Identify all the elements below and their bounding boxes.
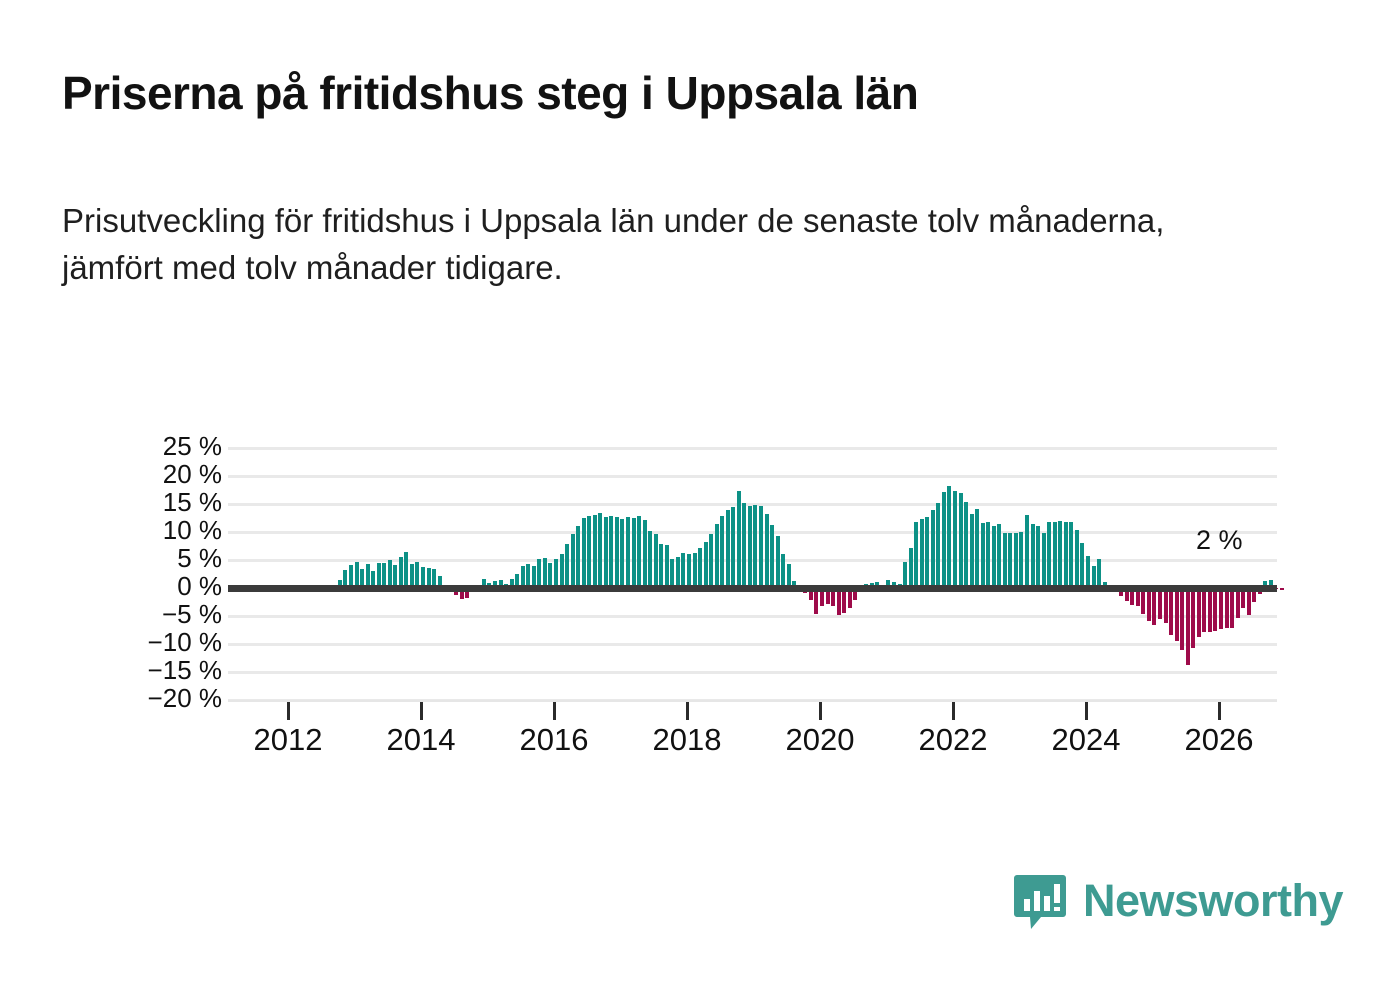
- bar: [598, 513, 602, 588]
- bar: [814, 588, 818, 614]
- y-axis-tick-label: −15 %: [82, 655, 222, 686]
- bar: [1236, 588, 1240, 618]
- bar: [765, 514, 769, 588]
- x-axis-tick: [819, 702, 822, 720]
- bar: [1069, 522, 1073, 588]
- bar: [1208, 588, 1212, 632]
- bar: [753, 505, 757, 588]
- bar: [770, 525, 774, 588]
- bar: [970, 514, 974, 588]
- bar: [947, 486, 951, 588]
- bar: [997, 524, 1001, 588]
- bar: [1191, 588, 1195, 648]
- bar: [648, 531, 652, 588]
- bar: [1169, 588, 1173, 635]
- x-axis-tick: [287, 702, 290, 720]
- bar: [975, 509, 979, 588]
- bar: [698, 548, 702, 588]
- bar-chart: 25 %20 %15 %10 %5 %0 %−5 %−10 %−15 %−20 …: [0, 430, 1382, 720]
- bar: [942, 492, 946, 588]
- bar: [1280, 588, 1284, 590]
- bar: [609, 516, 613, 588]
- bar: [1064, 522, 1068, 588]
- bar: [1213, 588, 1217, 631]
- bar: [986, 522, 990, 588]
- bar: [604, 517, 608, 588]
- bar: [837, 588, 841, 615]
- bar: [842, 588, 846, 613]
- bar: [543, 558, 547, 588]
- bar: [687, 554, 691, 588]
- y-axis-tick-label: 0 %: [82, 571, 222, 602]
- bar: [1147, 588, 1151, 621]
- page-subtitle: Prisutveckling för fritidshus i Uppsala …: [62, 198, 1182, 292]
- x-axis-tick: [952, 702, 955, 720]
- x-axis-tick-label: 2018: [627, 722, 747, 758]
- bar: [731, 507, 735, 588]
- x-axis-tick-label: 2026: [1159, 722, 1279, 758]
- x-axis-tick: [686, 702, 689, 720]
- bar: [931, 510, 935, 588]
- bar: [1219, 588, 1223, 629]
- bar: [1080, 543, 1084, 588]
- plot-area: [228, 448, 1277, 700]
- bar: [643, 520, 647, 588]
- bar: [704, 542, 708, 588]
- bar: [1019, 532, 1023, 588]
- bar: [1175, 588, 1179, 641]
- x-axis-tick-label: 2014: [361, 722, 481, 758]
- bar: [615, 517, 619, 588]
- bar: [1042, 533, 1046, 588]
- bar: [637, 516, 641, 588]
- newsworthy-logo[interactable]: Newsworthy: [1011, 872, 1343, 930]
- x-axis-tick-label: 2016: [494, 722, 614, 758]
- bar: [742, 503, 746, 588]
- bar: [1180, 588, 1184, 650]
- bar: [1202, 588, 1206, 632]
- x-axis-tick: [553, 702, 556, 720]
- bar: [737, 491, 741, 588]
- x-axis-tick-label: 2020: [760, 722, 880, 758]
- bar: [959, 493, 963, 588]
- bar: [709, 534, 713, 588]
- bar: [715, 524, 719, 588]
- bar: [1197, 588, 1201, 637]
- bar: [620, 519, 624, 588]
- bar: [1164, 588, 1168, 623]
- bar: [1158, 588, 1162, 619]
- bar: [720, 516, 724, 588]
- bar-chart-speech-bubble-icon: [1011, 872, 1069, 930]
- bar: [626, 517, 630, 588]
- bar: [1003, 533, 1007, 588]
- bar: [654, 534, 658, 588]
- bar: [1086, 556, 1090, 588]
- y-axis-tick-label: 10 %: [82, 515, 222, 546]
- logo-wordmark: Newsworthy: [1083, 875, 1343, 927]
- x-axis-tick: [420, 702, 423, 720]
- bar: [1047, 522, 1051, 588]
- x-axis-tick: [1085, 702, 1088, 720]
- y-axis-tick-label: 15 %: [82, 487, 222, 518]
- bar: [909, 548, 913, 588]
- gridline: [228, 643, 1277, 646]
- x-axis-tick-label: 2024: [1026, 722, 1146, 758]
- last-value-label: 2 %: [1196, 525, 1243, 556]
- gridline: [228, 475, 1277, 478]
- bar: [1141, 588, 1145, 614]
- bar: [1225, 588, 1229, 628]
- y-axis-tick-label: 20 %: [82, 459, 222, 490]
- page-title: Priserna på fritidshus steg i Uppsala lä…: [62, 68, 1332, 120]
- x-axis-line: [228, 700, 1277, 702]
- bar: [776, 536, 780, 588]
- bar: [632, 518, 636, 588]
- bar: [992, 526, 996, 588]
- bar: [1075, 530, 1079, 588]
- bar: [964, 502, 968, 588]
- bar: [920, 519, 924, 588]
- bar: [726, 510, 730, 588]
- bar: [587, 516, 591, 588]
- bar: [1031, 524, 1035, 588]
- zero-line: [228, 585, 1277, 592]
- bar: [1058, 521, 1062, 588]
- bar: [693, 553, 697, 588]
- gridline: [228, 615, 1277, 618]
- bar: [1025, 515, 1029, 588]
- bar: [404, 552, 408, 588]
- bar: [593, 515, 597, 588]
- bar: [571, 534, 575, 588]
- gridline: [228, 671, 1277, 674]
- bar: [953, 491, 957, 588]
- x-axis-tick-label: 2012: [228, 722, 348, 758]
- bar: [665, 545, 669, 588]
- gridline: [228, 447, 1277, 450]
- bar: [560, 554, 564, 588]
- bar: [1008, 533, 1012, 588]
- bar: [1247, 588, 1251, 615]
- bar: [1152, 588, 1156, 625]
- bar: [781, 554, 785, 588]
- x-axis: 20122014201620182020202220242026: [228, 700, 1277, 750]
- bar: [1036, 526, 1040, 588]
- bar: [759, 506, 763, 588]
- y-axis-tick-label: 5 %: [82, 543, 222, 574]
- y-axis-tick-label: −20 %: [82, 683, 222, 714]
- bar: [659, 544, 663, 588]
- bar: [748, 506, 752, 588]
- bar: [936, 503, 940, 588]
- x-axis-tick: [1218, 702, 1221, 720]
- bar: [676, 557, 680, 588]
- bar: [1230, 588, 1234, 628]
- bar: [681, 553, 685, 588]
- y-axis-tick-label: −10 %: [82, 627, 222, 658]
- bar: [576, 526, 580, 588]
- bar: [399, 557, 403, 588]
- bar: [1053, 522, 1057, 588]
- bar: [582, 518, 586, 588]
- bar: [925, 517, 929, 588]
- bar: [1014, 533, 1018, 588]
- bar: [914, 522, 918, 588]
- y-axis-tick-label: 25 %: [82, 431, 222, 462]
- y-axis-tick-label: −5 %: [82, 599, 222, 630]
- bar: [981, 523, 985, 588]
- bar: [1186, 588, 1190, 665]
- x-axis-tick-label: 2022: [893, 722, 1013, 758]
- bar: [565, 544, 569, 588]
